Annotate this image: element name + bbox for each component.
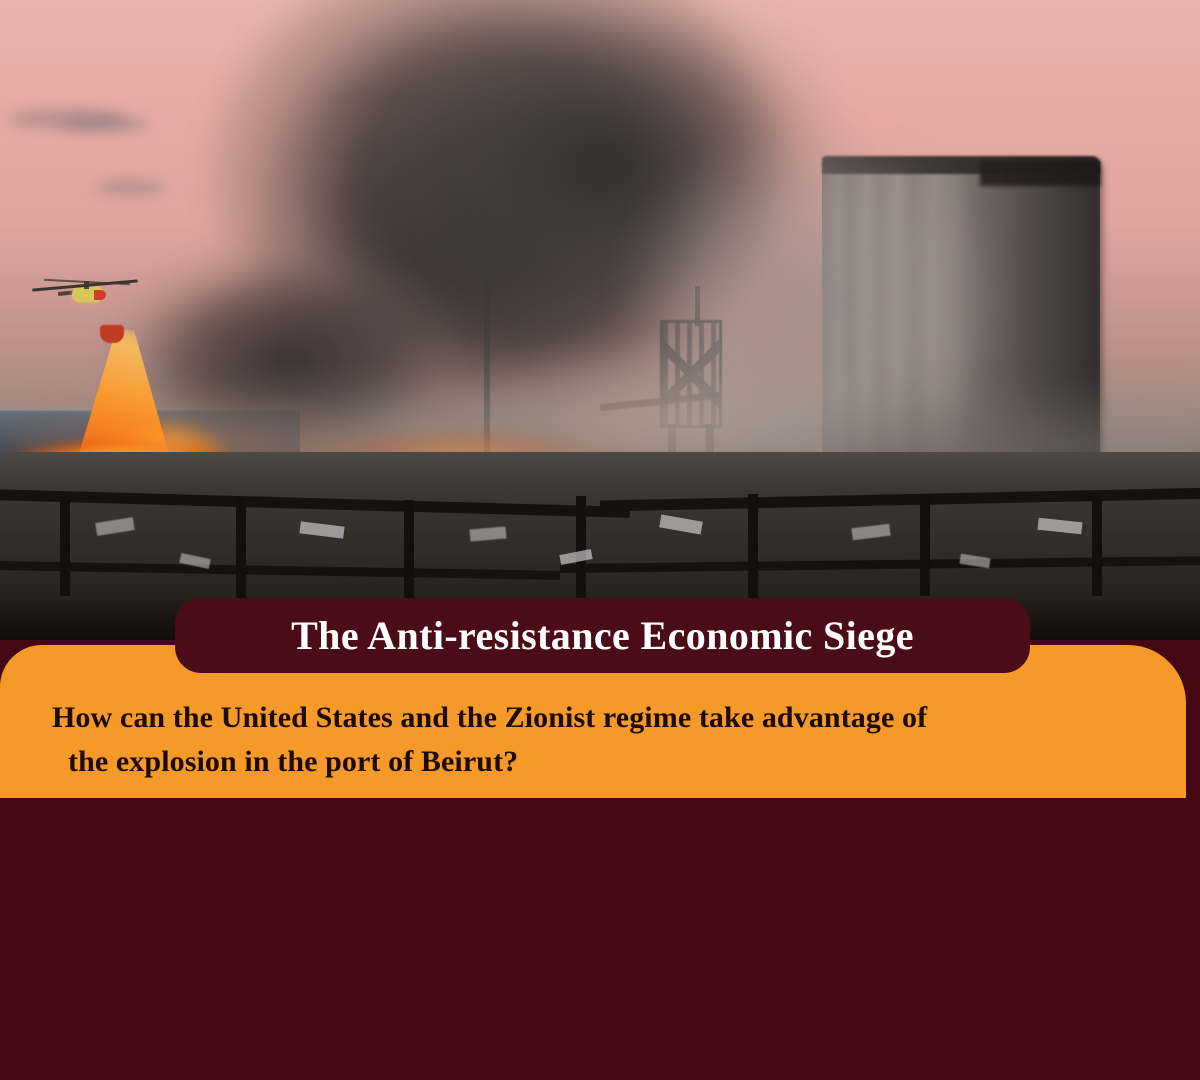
answer-panel: It can Activate the maximum pressure sta… bbox=[0, 798, 1200, 1080]
title-pill: The Anti-resistance Economic Siege bbox=[175, 598, 1030, 673]
question-line-2: the explosion in the port of Beirut? bbox=[52, 740, 1162, 784]
infographic-card: How can the United States and the Zionis… bbox=[0, 0, 1200, 1080]
question-text: How can the United States and the Zionis… bbox=[52, 696, 1162, 784]
question-line-1: How can the United States and the Zionis… bbox=[52, 701, 927, 734]
steel-column bbox=[404, 500, 414, 598]
panel-right-edge bbox=[1186, 645, 1200, 798]
background-photo bbox=[0, 0, 1200, 640]
helicopter-nose bbox=[94, 290, 106, 300]
helicopter-water-bucket bbox=[100, 325, 124, 343]
steel-column bbox=[920, 494, 930, 596]
steel-column bbox=[1092, 496, 1102, 596]
steel-column bbox=[576, 496, 586, 598]
page-title: The Anti-resistance Economic Siege bbox=[291, 612, 914, 659]
steel-column bbox=[60, 500, 70, 596]
steel-column bbox=[748, 494, 758, 598]
steel-column bbox=[236, 498, 246, 598]
